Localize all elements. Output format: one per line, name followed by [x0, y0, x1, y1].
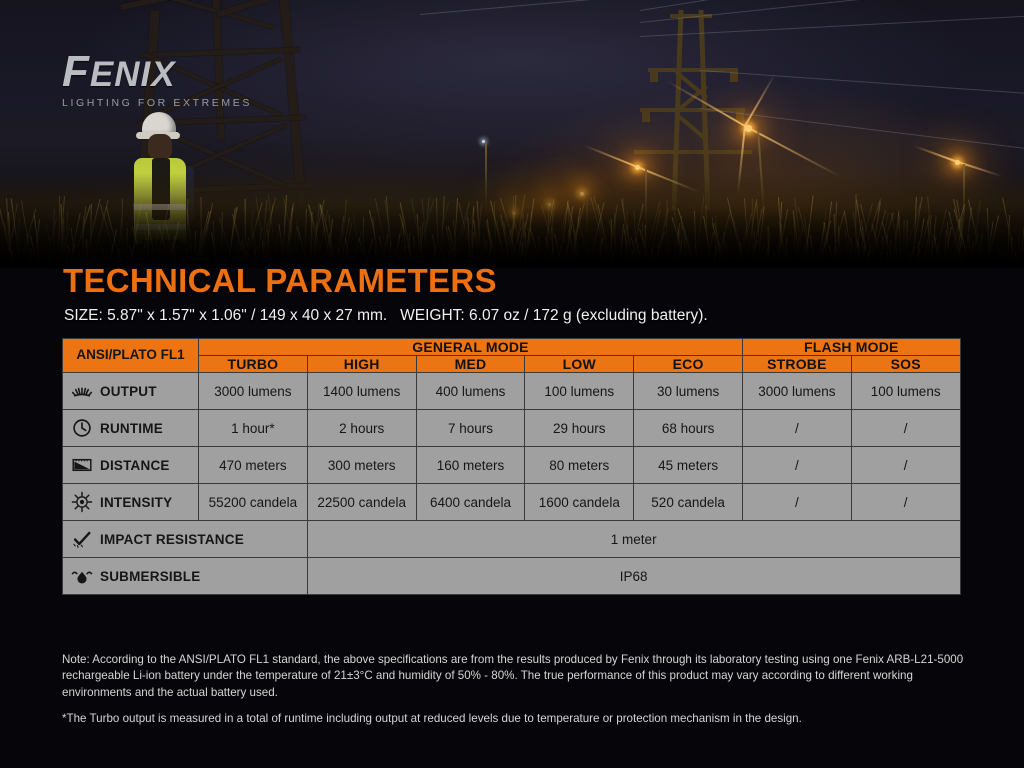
- ansi-label-text: ANSI/PLATO FL1: [76, 347, 184, 362]
- row-label-submersible: SUBMERSIBLE: [63, 558, 308, 595]
- row-label-output: OUTPUT: [63, 373, 199, 410]
- row-label-text: RUNTIME: [100, 421, 163, 436]
- header-mode-sos: SOS: [851, 356, 960, 373]
- cell-distance-med: 160 meters: [416, 447, 525, 484]
- technical-parameters-table: ANSI/PLATO FL1 GENERAL MODE FLASH MODE T…: [62, 338, 961, 595]
- header-mode-strobe: STROBE: [742, 356, 851, 373]
- cell-intensity-turbo: 55200 candela: [199, 484, 308, 521]
- table-head: ANSI/PLATO FL1 GENERAL MODE FLASH MODE T…: [63, 339, 961, 373]
- impact-resistance-icon: [71, 528, 93, 550]
- cell-distance-sos: /: [851, 447, 960, 484]
- table-row-submersible: SUBMERSIBLE IP68: [63, 558, 961, 595]
- logo-initial: F: [62, 47, 90, 96]
- cell-intensity-sos: /: [851, 484, 960, 521]
- cell-output-strobe: 3000 lumens: [742, 373, 851, 410]
- logo-tagline: LIGHTING FOR EXTREMES: [62, 97, 252, 109]
- cell-output-turbo: 3000 lumens: [199, 373, 308, 410]
- table-row-intensity: INTENSITY 55200 candela 22500 candela 64…: [63, 484, 961, 521]
- table-row-distance: DISTANCE 470 meters 300 meters 160 meter…: [63, 447, 961, 484]
- header-mode-med: MED: [416, 356, 525, 373]
- cell-output-low: 100 lumens: [525, 373, 634, 410]
- cell-output-sos: 100 lumens: [851, 373, 960, 410]
- cell-distance-eco: 45 meters: [634, 447, 743, 484]
- cell-intensity-low: 1600 candela: [525, 484, 634, 521]
- header-mode-eco: ECO: [634, 356, 743, 373]
- logo-rest: ENIX: [90, 55, 176, 94]
- row-label-distance: DISTANCE: [63, 447, 199, 484]
- header-mode-turbo: TURBO: [199, 356, 308, 373]
- cell-impact-resistance-value: 1 meter: [307, 521, 960, 558]
- cell-runtime-strobe: /: [742, 410, 851, 447]
- row-label-text: OUTPUT: [100, 384, 157, 399]
- cell-intensity-high: 22500 candela: [307, 484, 416, 521]
- cell-intensity-eco: 520 candela: [634, 484, 743, 521]
- row-label-text: INTENSITY: [100, 495, 172, 510]
- cell-output-eco: 30 lumens: [634, 373, 743, 410]
- size-weight-line: SIZE: 5.87" x 1.57" x 1.06" / 149 x 40 x…: [64, 307, 708, 325]
- header-flash-mode: FLASH MODE: [742, 339, 960, 356]
- clock-icon: [71, 417, 93, 439]
- notes-block: Note: According to the ANSI/PLATO FL1 st…: [62, 652, 967, 728]
- table-body: OUTPUT 3000 lumens 1400 lumens 400 lumen…: [63, 373, 961, 595]
- table-group-header-row: ANSI/PLATO FL1 GENERAL MODE FLASH MODE: [63, 339, 961, 356]
- note-footnote: *The Turbo output is measured in a total…: [62, 711, 967, 727]
- note-main: Note: According to the ANSI/PLATO FL1 st…: [62, 652, 967, 701]
- cell-output-high: 1400 lumens: [307, 373, 416, 410]
- row-label-intensity: INTENSITY: [63, 484, 199, 521]
- cell-runtime-eco: 68 hours: [634, 410, 743, 447]
- peak-intensity-icon: [71, 491, 93, 513]
- header-mode-high: HIGH: [307, 356, 416, 373]
- page-title: TECHNICAL PARAMETERS: [63, 262, 497, 300]
- cell-runtime-turbo: 1 hour*: [199, 410, 308, 447]
- cell-distance-high: 300 meters: [307, 447, 416, 484]
- cell-intensity-strobe: /: [742, 484, 851, 521]
- cell-runtime-med: 7 hours: [416, 410, 525, 447]
- cell-runtime-low: 29 hours: [525, 410, 634, 447]
- logo-wordmark: FENIX: [62, 50, 252, 94]
- row-label-text: IMPACT RESISTANCE: [100, 532, 244, 547]
- product-spec-page: FENIX LIGHTING FOR EXTREMES TECHNICAL PA…: [0, 0, 1024, 768]
- light-output-icon: [71, 380, 93, 402]
- cell-distance-low: 80 meters: [525, 447, 634, 484]
- photo-fade: [0, 208, 1024, 268]
- cell-runtime-sos: /: [851, 410, 960, 447]
- table-row-output: OUTPUT 3000 lumens 1400 lumens 400 lumen…: [63, 373, 961, 410]
- cell-runtime-high: 2 hours: [307, 410, 416, 447]
- fenix-logo: FENIX LIGHTING FOR EXTREMES: [62, 50, 252, 109]
- table-row-impact-resistance: IMPACT RESISTANCE 1 meter: [63, 521, 961, 558]
- table-row-runtime: RUNTIME 1 hour* 2 hours 7 hours 29 hours…: [63, 410, 961, 447]
- row-label-runtime: RUNTIME: [63, 410, 199, 447]
- cell-distance-strobe: /: [742, 447, 851, 484]
- header-ansi-plato-fl1: ANSI/PLATO FL1: [63, 339, 199, 373]
- row-label-text: DISTANCE: [100, 458, 170, 473]
- header-general-mode: GENERAL MODE: [199, 339, 743, 356]
- header-mode-low: LOW: [525, 356, 634, 373]
- cell-intensity-med: 6400 candela: [416, 484, 525, 521]
- row-label-impact-resistance: IMPACT RESISTANCE: [63, 521, 308, 558]
- cell-output-med: 400 lumens: [416, 373, 525, 410]
- cell-distance-turbo: 470 meters: [199, 447, 308, 484]
- row-label-text: SUBMERSIBLE: [100, 569, 200, 584]
- cell-submersible-value: IP68: [307, 558, 960, 595]
- beam-distance-icon: [71, 454, 93, 476]
- hero-photo: [0, 0, 1024, 268]
- submersible-icon: [71, 565, 93, 587]
